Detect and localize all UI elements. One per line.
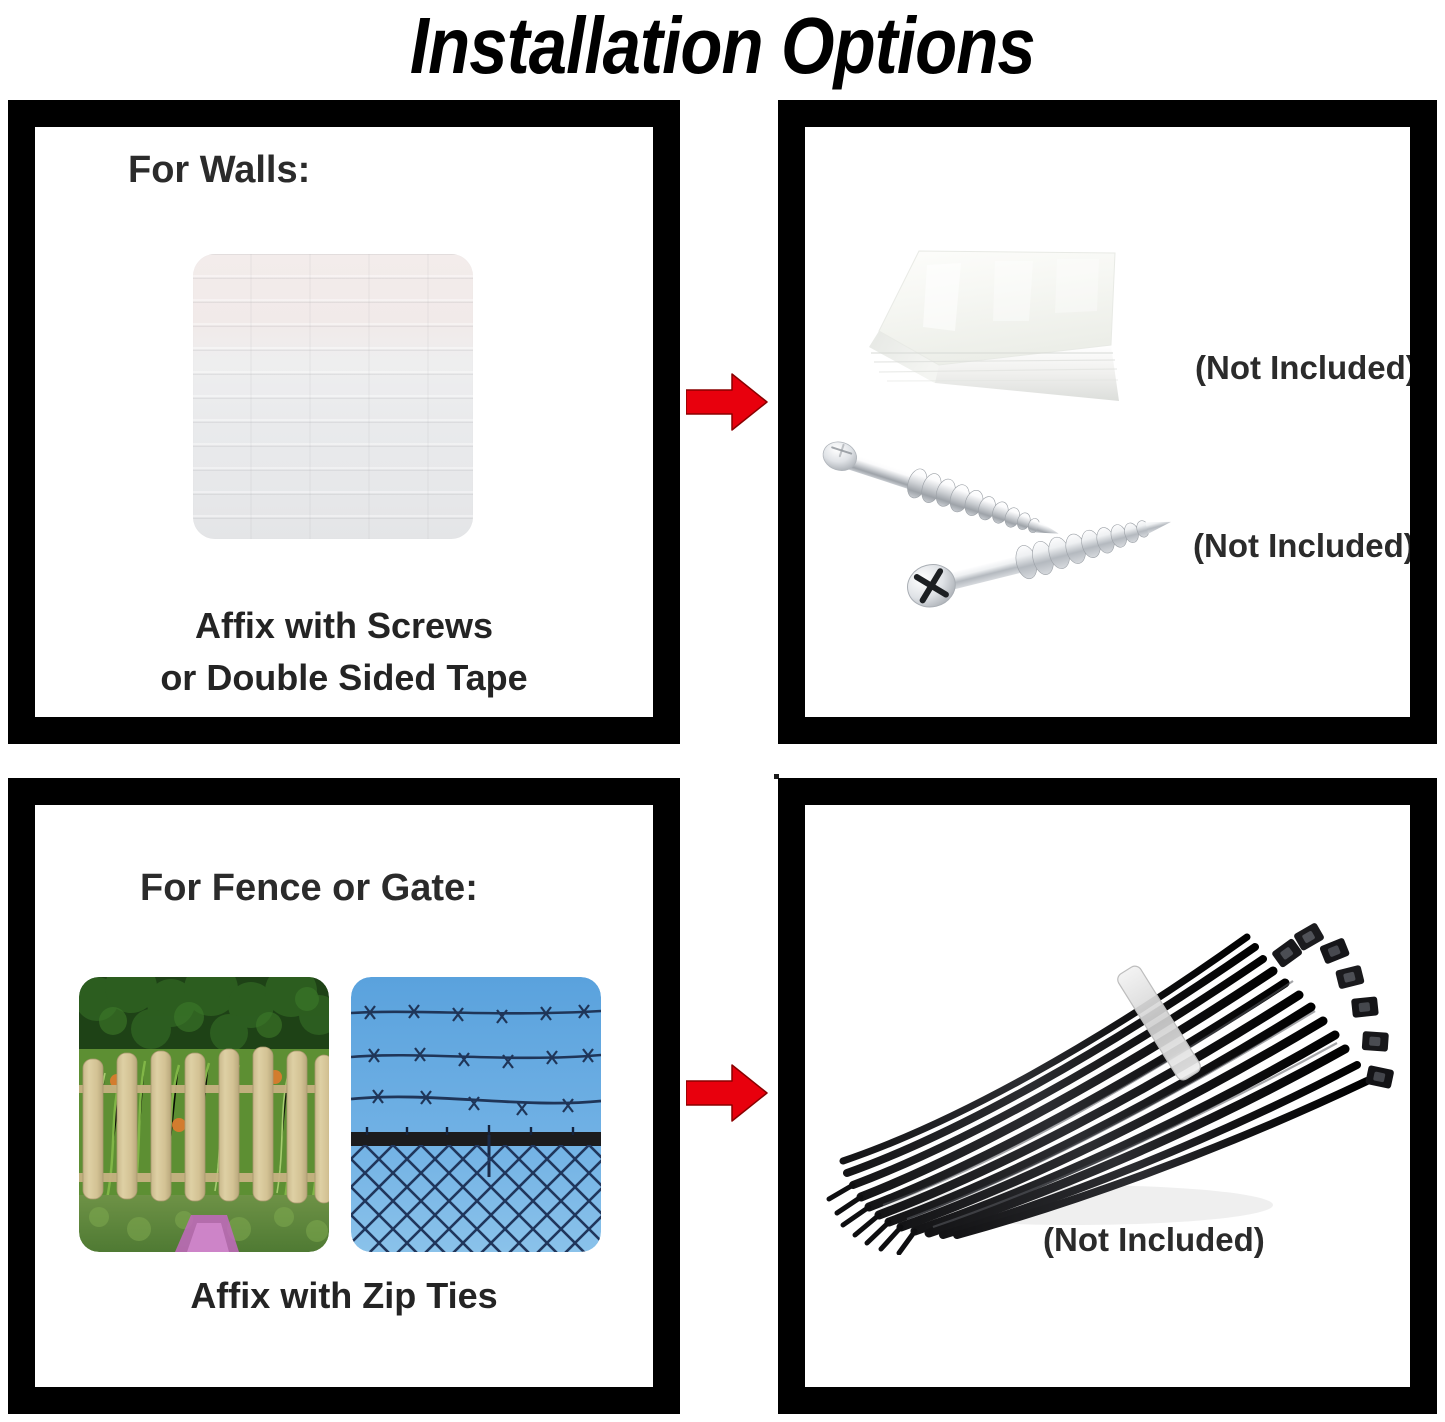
page-title-bar: Installation Options	[0, 0, 1445, 92]
panel-for-walls-content: For Walls: Affix with Screws or Double S…	[35, 127, 653, 717]
black-zip-tie-bundle-image	[823, 875, 1403, 1255]
panel-for-fence-or-gate: For Fence or Gate:	[8, 778, 680, 1414]
panel-for-walls: For Walls: Affix with Screws or Double S…	[8, 100, 680, 744]
caption-or-double-sided-tape: or Double Sided Tape	[35, 657, 653, 699]
panel-for-fence-content: For Fence or Gate:	[35, 805, 653, 1387]
panel-wall-hardware: (Not Included)	[778, 100, 1437, 744]
page-title: Installation Options	[410, 6, 1035, 86]
note-screws-not-included: (Not Included)	[1193, 527, 1410, 565]
panel-wall-hardware-content: (Not Included)	[805, 127, 1410, 717]
caption-affix-with-screws: Affix with Screws	[35, 605, 653, 647]
wood-screws-image	[815, 419, 1175, 609]
double-sided-tape-stack-image	[843, 235, 1143, 425]
arrow-walls-to-hardware-icon	[686, 372, 768, 432]
panel-heading-for-fence-or-gate: For Fence or Gate:	[140, 867, 478, 910]
wooden-picket-fence-photo	[79, 977, 329, 1252]
caption-affix-with-zip-ties: Affix with Zip Ties	[35, 1275, 653, 1317]
note-tape-not-included: (Not Included)	[1195, 349, 1410, 387]
chain-link-barbed-wire-fence-photo	[351, 977, 601, 1252]
white-brick-wall-swatch	[193, 254, 473, 539]
panel-fence-hardware: (Not Included)	[778, 778, 1437, 1414]
arrow-fence-to-hardware-icon	[686, 1063, 768, 1123]
panel-fence-hardware-content: (Not Included)	[805, 805, 1410, 1387]
note-zip-ties-not-included: (Not Included)	[1043, 1221, 1265, 1259]
panel-heading-for-walls: For Walls:	[128, 149, 310, 192]
